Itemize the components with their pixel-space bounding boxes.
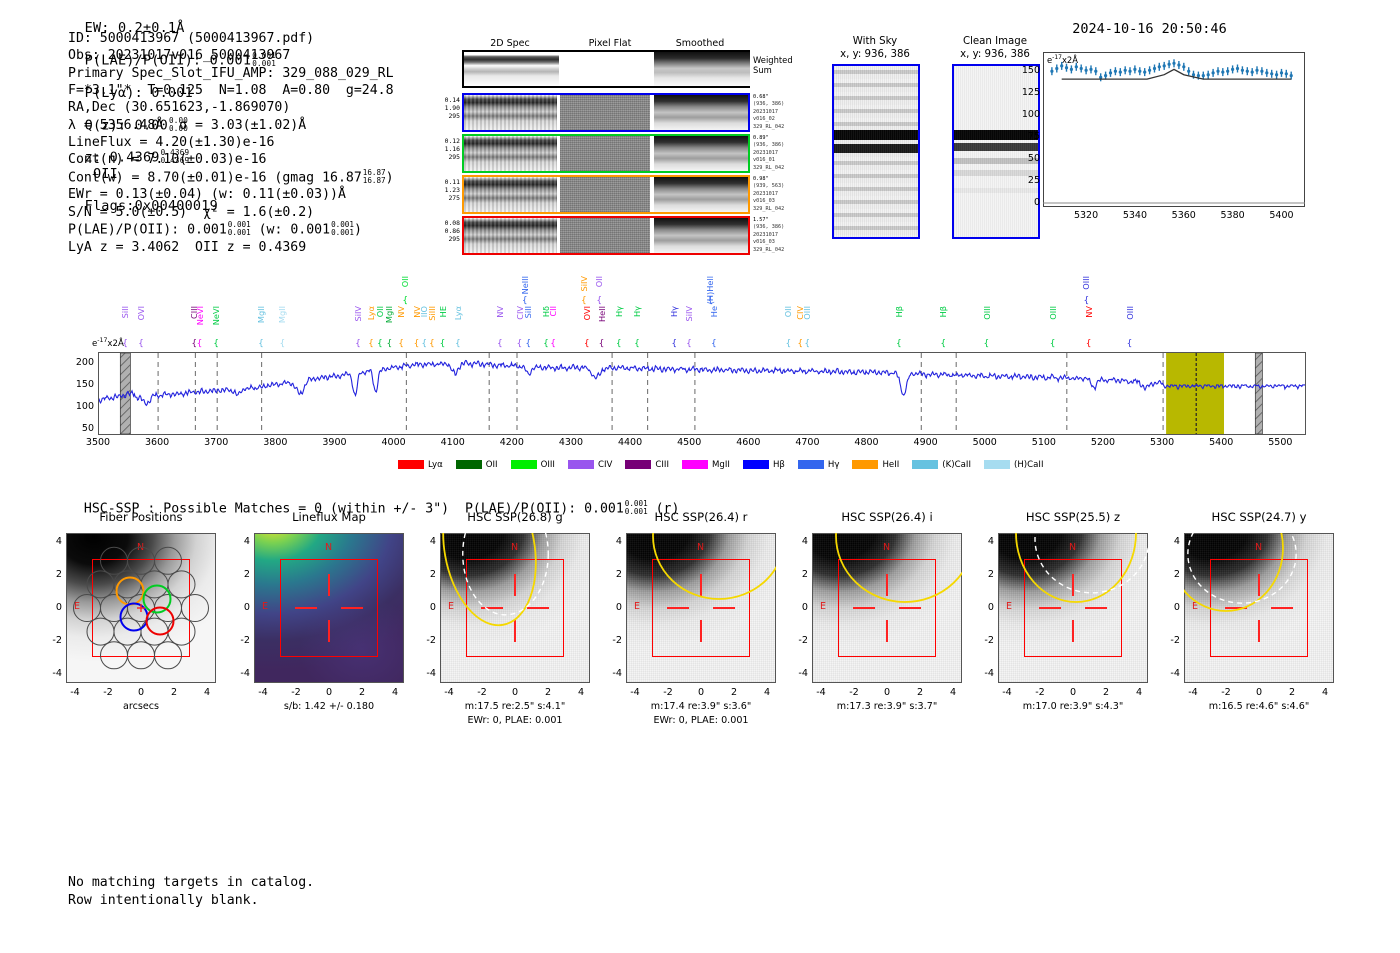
emission-line-bracket: { bbox=[599, 339, 605, 349]
crosshair-right bbox=[899, 607, 921, 608]
zoom-xtick: 5320 bbox=[1068, 210, 1104, 221]
fiber-metadata-line: 0.89" bbox=[753, 135, 813, 142]
panel-ytick: 4 bbox=[602, 536, 622, 547]
panel-xtick: -2 bbox=[468, 687, 496, 698]
emission-line-label: HE bbox=[438, 306, 448, 317]
panel-xtick: 0 bbox=[1059, 687, 1087, 698]
spectrum-xtick: 3600 bbox=[135, 437, 179, 448]
fiber-row-stats: 0.121.16295 bbox=[436, 137, 460, 161]
emission-line-bracket: { bbox=[402, 296, 408, 306]
fiber-row-metadata: 0.68"(936, 386)20231017v016_02329_RL_042 bbox=[753, 94, 813, 131]
emission-line-bracket: { bbox=[1050, 339, 1056, 349]
clean-image-title: Clean Image bbox=[925, 36, 1065, 49]
panel-xtick: -4 bbox=[1179, 687, 1207, 698]
emission-line-label: OII bbox=[594, 276, 604, 287]
emission-line-label: HeII bbox=[597, 306, 607, 322]
fiber-stat-value: 295 bbox=[436, 235, 460, 243]
panel-xtick: 4 bbox=[1125, 687, 1153, 698]
fiber-spec-row bbox=[462, 134, 750, 173]
panel-xtick: 2 bbox=[534, 687, 562, 698]
emission-line-bracket: { bbox=[138, 339, 144, 349]
emission-line-bracket: { bbox=[1127, 339, 1133, 349]
spectrum-xtick: 4100 bbox=[431, 437, 475, 448]
emission-line-label: Hγ bbox=[614, 306, 624, 317]
emission-line-bracket: { bbox=[440, 339, 446, 349]
legend-item: Hβ bbox=[743, 460, 785, 470]
emission-line-label: SiIII bbox=[427, 306, 437, 321]
legend-item: (K)CaII bbox=[912, 460, 971, 470]
compass-north: N bbox=[883, 542, 890, 553]
emission-line-bracket: { bbox=[797, 339, 803, 349]
fiber-stat-value: 1.90 bbox=[436, 104, 460, 112]
crosshair-right bbox=[341, 607, 363, 608]
legend-item: CIII bbox=[625, 460, 669, 470]
panel-ytick: 2 bbox=[42, 569, 62, 580]
panel-xtick: -2 bbox=[94, 687, 122, 698]
emission-line-label: MgII bbox=[384, 306, 394, 323]
emission-line-bracket: { bbox=[785, 339, 791, 349]
emission-line-label: OIII bbox=[1125, 306, 1135, 320]
crosshair-top bbox=[1258, 574, 1259, 596]
panel-ytick: -2 bbox=[42, 635, 62, 646]
emission-line-bracket: { bbox=[517, 339, 523, 349]
emission-line-label: OIII bbox=[1081, 276, 1091, 290]
panel-ytick: -4 bbox=[602, 668, 622, 679]
panel-ytick: 0 bbox=[1160, 602, 1180, 613]
panel-xtick: -2 bbox=[1212, 687, 1240, 698]
panel-ytick: 2 bbox=[416, 569, 436, 580]
panel-ytick: -2 bbox=[602, 635, 622, 646]
emission-line-bracket: { bbox=[398, 339, 404, 349]
spectrum-xtick: 5200 bbox=[1081, 437, 1125, 448]
panel-ytick: 0 bbox=[788, 602, 808, 613]
spectrum-ytick: 50 bbox=[62, 423, 94, 434]
zoom-xtick: 5360 bbox=[1166, 210, 1202, 221]
legend-color-chip bbox=[852, 460, 878, 469]
spectrum-xtick: 3800 bbox=[253, 437, 297, 448]
spectrum-xtick: 4500 bbox=[667, 437, 711, 448]
emission-line-label: Hγ bbox=[632, 306, 642, 317]
crosshair-bottom bbox=[514, 620, 515, 642]
fiber-metadata-line: 0.98" bbox=[753, 176, 813, 183]
panel-xtick: 2 bbox=[348, 687, 376, 698]
fiber-metadata-line: (939, 563) bbox=[753, 183, 813, 190]
panel-ytick: 4 bbox=[974, 536, 994, 547]
zoom-ytick: 0 bbox=[1012, 197, 1040, 208]
panel-xtick: -4 bbox=[993, 687, 1021, 698]
emission-line-bracket: { bbox=[279, 339, 285, 349]
legend-item: CIV bbox=[568, 460, 612, 470]
emission-line-bracket: { bbox=[455, 339, 461, 349]
spectrum-yunit-label: e-17x2Å bbox=[92, 337, 124, 349]
crosshair-bottom bbox=[1258, 620, 1259, 642]
panel-xtick: -4 bbox=[807, 687, 835, 698]
spectrum-xtick: 3900 bbox=[312, 437, 356, 448]
compass-east: E bbox=[820, 601, 826, 612]
panel-ytick: 0 bbox=[230, 602, 250, 613]
emission-line-bracket: { bbox=[686, 339, 692, 349]
emission-line-bracket: { bbox=[522, 296, 528, 306]
spectrum-xtick: 4900 bbox=[904, 437, 948, 448]
crosshair-bottom bbox=[1072, 620, 1073, 642]
fiber-stat-value: 0.12 bbox=[436, 137, 460, 145]
legend-item: OIII bbox=[511, 460, 555, 470]
spectrum-xtick: 4000 bbox=[372, 437, 416, 448]
panel-title: HSC SSP(26.8) g bbox=[410, 510, 620, 524]
emission-line-bracket: { bbox=[355, 339, 361, 349]
legend-color-chip bbox=[682, 460, 708, 469]
emission-line-bracket: { bbox=[711, 339, 717, 349]
weighted-sum-label-line1: Weighted bbox=[753, 55, 793, 65]
panel-xtick: 0 bbox=[501, 687, 529, 698]
crosshair-right bbox=[1085, 607, 1107, 608]
panel-ytick: 2 bbox=[230, 569, 250, 580]
panel-ytick: 2 bbox=[602, 569, 622, 580]
emission-line-bracket: { bbox=[213, 339, 219, 349]
panel-caption-secondary: EWr: 0, PLAE: 0.001 bbox=[408, 715, 622, 726]
emission-line-bracket: { bbox=[258, 339, 264, 349]
panel-ytick: -2 bbox=[416, 635, 436, 646]
zoom-ytick: 125 bbox=[1012, 87, 1040, 98]
legend-item: HeII bbox=[852, 460, 899, 470]
fiber-metadata-line: v016_03 bbox=[753, 198, 813, 205]
zoom-yunit-label: e-17x2Å bbox=[1047, 54, 1078, 65]
info-sn-chi2: S/N = 5.0(±0.5) χ² = 1.6(±0.2) bbox=[68, 204, 394, 221]
emission-line-label: He bbox=[709, 306, 719, 317]
panel-ytick: 0 bbox=[602, 602, 622, 613]
compass-east: E bbox=[448, 601, 454, 612]
spectrum-xtick: 4700 bbox=[785, 437, 829, 448]
emission-line-bracket: { bbox=[1083, 296, 1089, 306]
zoom-ytick: 50 bbox=[1012, 153, 1040, 164]
panel-caption-secondary: EWr: 0, PLAE: 0.001 bbox=[594, 715, 808, 726]
emission-line-bracket: { bbox=[377, 339, 383, 349]
fiber-smoothed-image bbox=[654, 177, 748, 212]
emission-line-label: SiIV bbox=[353, 306, 363, 322]
emission-line-bracket: { bbox=[414, 339, 420, 349]
emission-line-label: NeVI bbox=[211, 306, 221, 325]
panel-xtick: -2 bbox=[1026, 687, 1054, 698]
info-cont-w-text: Cont(w) = 8.70(±0.01)e-16 (gmag 16.87 bbox=[68, 170, 362, 185]
panel-xtick: 2 bbox=[1278, 687, 1306, 698]
fiber-2dspec-image bbox=[464, 218, 557, 253]
legend-label: CIII bbox=[655, 460, 669, 470]
info-wavelength-sigma: λ = 5356.48Å σ = 3.03(±1.02)Å bbox=[68, 117, 394, 134]
info-redshifts: LyA z = 3.4062 OII z = 0.4369 bbox=[68, 239, 394, 256]
weighted-sum-label: Weighted Sum bbox=[753, 55, 793, 75]
info-radec: RA,Dec (30.651623,-1.869070) bbox=[68, 99, 394, 116]
panel-xtick: 4 bbox=[939, 687, 967, 698]
crosshair-left bbox=[1225, 607, 1247, 608]
crosshair-top bbox=[700, 574, 701, 596]
emission-line-bracket: { bbox=[525, 339, 531, 349]
panel-xtick: -2 bbox=[654, 687, 682, 698]
fiber-metadata-line: 20231017 bbox=[753, 191, 813, 198]
emission-line-label: MgII bbox=[277, 306, 287, 323]
panel-xtick: 2 bbox=[906, 687, 934, 698]
spectrum-legend: LyαOIIOIIICIVCIIIMgIIHβHγHeII(K)CaII(H)C… bbox=[398, 454, 1057, 473]
panel-ytick: 4 bbox=[230, 536, 250, 547]
emission-line-bracket: { bbox=[616, 339, 622, 349]
panel-ytick: 4 bbox=[788, 536, 808, 547]
col-title-2dspec: 2D Spec bbox=[470, 38, 550, 49]
spectrum-ytick: 200 bbox=[62, 357, 94, 368]
panel-title: HSC SSP(26.4) r bbox=[596, 510, 806, 524]
legend-color-chip bbox=[912, 460, 938, 469]
panel-xtick: 0 bbox=[315, 687, 343, 698]
panel-title: HSC SSP(24.7) y bbox=[1154, 510, 1364, 524]
with-sky-title-block: With Sky x, y: 936, 386 bbox=[810, 36, 940, 61]
col-title-pixelflat: Pixel Flat bbox=[570, 38, 650, 49]
info-ewr: EWr = 0.13(±0.04) (w: 0.11(±0.03))Å bbox=[68, 186, 394, 203]
fiber-metadata-line: 329_RL_042 bbox=[753, 165, 813, 172]
panel-ytick: -2 bbox=[974, 635, 994, 646]
legend-item: (H)CaII bbox=[984, 460, 1044, 470]
emission-line-bracket: { bbox=[984, 339, 990, 349]
fiber-spec-row bbox=[462, 93, 750, 132]
fiber-stat-value: 0.86 bbox=[436, 227, 460, 235]
info-gmag-frac-bot: 16.87 bbox=[363, 176, 386, 185]
emission-line-bracket: { bbox=[671, 339, 677, 349]
panel-caption-primary: arcsecs bbox=[34, 701, 248, 712]
legend-color-chip bbox=[568, 460, 594, 469]
emission-line-bracket: { bbox=[584, 339, 590, 349]
emission-line-bracket: { bbox=[940, 339, 946, 349]
info-cont-w: Cont(w) = 8.70(±0.01)e-16 (gmag 16.8716.… bbox=[68, 169, 394, 187]
spectrum-xtick: 5100 bbox=[1022, 437, 1066, 448]
panel-ytick: -4 bbox=[788, 668, 808, 679]
compass-east: E bbox=[1192, 601, 1198, 612]
info-cont-n: Cont(n) = 7.10(±0.03)e-16 bbox=[68, 151, 394, 168]
weighted-sum-2dspec-image bbox=[464, 52, 559, 86]
fiber-spec-row bbox=[462, 175, 750, 214]
panel-title: HSC SSP(26.4) i bbox=[782, 510, 992, 524]
emission-line-label: Lyα bbox=[453, 306, 463, 320]
legend-label: HeII bbox=[882, 460, 899, 470]
spectrum-xtick: 5500 bbox=[1258, 437, 1302, 448]
legend-label: (K)CaII bbox=[942, 460, 971, 470]
panel-xtick: 4 bbox=[193, 687, 221, 698]
info-lineflux: LineFlux = 4.20(±1.30)e-16 bbox=[68, 134, 394, 151]
panel-ytick: 2 bbox=[974, 569, 994, 580]
fiber-2dspec-image bbox=[464, 95, 557, 130]
info-plae-frac-bot: 0.001 bbox=[228, 228, 251, 237]
panel-title: Lineflux Map bbox=[224, 510, 434, 524]
fiber-stat-value: 295 bbox=[436, 112, 460, 120]
panel-ytick: 0 bbox=[974, 602, 994, 613]
fiber-metadata-line: (936, 386) bbox=[753, 142, 813, 149]
fiber-row-stats: 0.080.86295 bbox=[436, 219, 460, 243]
legend-item: OII bbox=[456, 460, 498, 470]
panel-ytick: 2 bbox=[1160, 569, 1180, 580]
crosshair-right bbox=[1271, 607, 1293, 608]
legend-color-chip bbox=[798, 460, 824, 469]
panel-title: HSC SSP(25.5) z bbox=[968, 510, 1178, 524]
panel-caption-primary: m:17.5 re:2.5" s:4.1" bbox=[408, 701, 622, 712]
legend-item: MgII bbox=[682, 460, 730, 470]
crosshair-top bbox=[514, 574, 515, 596]
crosshair-top bbox=[1072, 574, 1073, 596]
fiber-pixelflat-image bbox=[560, 218, 650, 253]
fiber-metadata-line: 329_RL_042 bbox=[753, 206, 813, 213]
emission-line-label: Hγ bbox=[669, 306, 679, 317]
zoom-ytick: 150 bbox=[1012, 65, 1040, 76]
legend-color-chip bbox=[511, 460, 537, 469]
panel-caption-primary: m:17.0 re:3.9" s:4.3" bbox=[966, 701, 1180, 712]
zoom-xtick: 5400 bbox=[1263, 210, 1299, 221]
legend-label: MgII bbox=[712, 460, 730, 470]
panel-ytick: 4 bbox=[416, 536, 436, 547]
emission-line-label: OIII bbox=[802, 306, 812, 320]
fiber-metadata-line: 329_RL_042 bbox=[753, 124, 813, 131]
fiber-stat-value: 0.14 bbox=[436, 96, 460, 104]
panel-caption-primary: m:17.3 re:3.9" s:3.7" bbox=[780, 701, 994, 712]
spectrum-ytick: 100 bbox=[62, 401, 94, 412]
emission-line-label: OII bbox=[400, 276, 410, 287]
panel-xtick: -4 bbox=[435, 687, 463, 698]
spectrum-xtick: 3700 bbox=[194, 437, 238, 448]
emission-line-bracket: { bbox=[543, 339, 549, 349]
fiber-metadata-line: 20231017 bbox=[753, 150, 813, 157]
legend-color-chip bbox=[625, 460, 651, 469]
zoom-ytick: 75 bbox=[1012, 131, 1040, 142]
weighted-sum-smoothed-image bbox=[654, 52, 750, 86]
panel-title: Fiber Positions bbox=[36, 510, 246, 524]
fiber-stat-value: 1.23 bbox=[436, 186, 460, 194]
panel-caption-primary: m:16.5 re:4.6" s:4.6" bbox=[1152, 701, 1366, 712]
crosshair-left bbox=[1039, 607, 1061, 608]
compass-north: N bbox=[1255, 542, 1262, 553]
emission-line-label: CII bbox=[548, 306, 558, 317]
legend-label: (H)CaII bbox=[1014, 460, 1044, 470]
spectrum-xtick: 4800 bbox=[845, 437, 889, 448]
fiber-row-metadata: 0.98"(939, 563)20231017v016_03329_RL_042 bbox=[753, 176, 813, 213]
fiber-metadata-line: (936, 386) bbox=[753, 224, 813, 231]
emission-line-bracket: { bbox=[550, 339, 556, 349]
compass-north: N bbox=[697, 542, 704, 553]
emission-line-bracket: { bbox=[497, 339, 503, 349]
info-obs: Obs: 20231017v016_5000413967 bbox=[68, 47, 394, 64]
emission-line-bracket: { bbox=[581, 296, 587, 306]
panel-ytick: 2 bbox=[788, 569, 808, 580]
panel-ytick: -4 bbox=[416, 668, 436, 679]
panel-xtick: 4 bbox=[753, 687, 781, 698]
fiber-metadata-line: 20231017 bbox=[753, 109, 813, 116]
fiber-2dspec-image bbox=[464, 177, 557, 212]
panel-xtick: 2 bbox=[720, 687, 748, 698]
emission-line-label: SiII bbox=[120, 306, 130, 318]
panel-caption-primary: s/b: 1.42 +/- 0.180 bbox=[222, 701, 436, 712]
panel-ytick: 4 bbox=[1160, 536, 1180, 547]
legend-color-chip bbox=[743, 460, 769, 469]
emission-line-bracket: { bbox=[429, 339, 435, 349]
emission-line-label: NV bbox=[396, 306, 406, 318]
emission-line-bracket: { bbox=[804, 339, 810, 349]
emission-line-label: SiIV bbox=[579, 276, 589, 292]
emission-line-bracket: { bbox=[197, 339, 203, 349]
zoom-ytick: 25 bbox=[1012, 175, 1040, 186]
fiber-circle-overlay bbox=[66, 533, 216, 683]
compass-east: E bbox=[634, 601, 640, 612]
legend-label: Hβ bbox=[773, 460, 785, 470]
weighted-sum-label-line2: Sum bbox=[753, 65, 793, 75]
with-sky-image bbox=[832, 64, 920, 239]
compass-north: N bbox=[325, 542, 332, 553]
legend-label: OIII bbox=[541, 460, 555, 470]
compass-east: E bbox=[1006, 601, 1012, 612]
crosshair-right bbox=[527, 607, 549, 608]
panel-xtick: -2 bbox=[840, 687, 868, 698]
emission-line-bracket: { bbox=[368, 339, 374, 349]
panel-ytick: -2 bbox=[788, 635, 808, 646]
emission-line-bracket: { bbox=[1086, 339, 1092, 349]
info-plae-text: P(LAE)/P(OII): 0.001 bbox=[68, 222, 227, 237]
weighted-sum-panel bbox=[462, 50, 750, 88]
legend-label: Hγ bbox=[828, 460, 840, 470]
fiber-smoothed-image bbox=[654, 136, 748, 171]
panel-xtick: 4 bbox=[381, 687, 409, 698]
timestamp: 2024-10-16 20:50:46 bbox=[1072, 21, 1226, 37]
panel-xtick: -4 bbox=[621, 687, 649, 698]
panel-xtick: -2 bbox=[282, 687, 310, 698]
panel-xtick: 0 bbox=[127, 687, 155, 698]
legend-item: Hγ bbox=[798, 460, 840, 470]
info-plae-poii: P(LAE)/P(OII): 0.0010.0010.001 (w: 0.001… bbox=[68, 221, 394, 239]
panel-ytick: 0 bbox=[42, 602, 62, 613]
legend-color-chip bbox=[456, 460, 482, 469]
emission-line-label: SiIV bbox=[684, 306, 694, 322]
crosshair-right bbox=[713, 607, 735, 608]
fiber-stat-value: 275 bbox=[436, 194, 460, 202]
col-title-smoothed: Smoothed bbox=[660, 38, 740, 49]
fiber-pixelflat-image bbox=[560, 177, 650, 212]
info-plae-w-text: (w: 0.001 bbox=[259, 222, 330, 237]
fiber-metadata-line: 0.68" bbox=[753, 94, 813, 101]
crosshair-left bbox=[295, 607, 317, 608]
full-spectrum-plot bbox=[98, 352, 1306, 435]
zoom-xtick: 5380 bbox=[1215, 210, 1251, 221]
panel-caption-primary: m:17.4 re:3.9" s:3.6" bbox=[594, 701, 808, 712]
emission-line-bracket: { bbox=[634, 339, 640, 349]
panel-ytick: -2 bbox=[230, 635, 250, 646]
spectrum-xtick: 4200 bbox=[490, 437, 534, 448]
panel-xtick: -4 bbox=[249, 687, 277, 698]
fiber-spec-row bbox=[462, 216, 750, 255]
legend-label: Lyα bbox=[428, 460, 443, 470]
crosshair-bottom bbox=[328, 620, 329, 642]
panel-xtick: 4 bbox=[1311, 687, 1339, 698]
panel-xtick: 4 bbox=[567, 687, 595, 698]
crosshair-left bbox=[481, 607, 503, 608]
legend-label: CIV bbox=[598, 460, 612, 470]
panel-ytick: 0 bbox=[416, 602, 436, 613]
full-spectrum-svg bbox=[99, 353, 1305, 434]
spectrum-xtick: 4400 bbox=[608, 437, 652, 448]
fiber-stat-value: 0.11 bbox=[436, 178, 460, 186]
crosshair-top bbox=[328, 574, 329, 596]
fiber-row-stats: 0.111.23275 bbox=[436, 178, 460, 202]
legend-color-chip bbox=[398, 460, 424, 469]
fiber-metadata-line: 1.57" bbox=[753, 217, 813, 224]
legend-label: OII bbox=[486, 460, 498, 470]
fiber-metadata-line: v016_02 bbox=[753, 116, 813, 123]
emission-line-label: NeIII bbox=[520, 276, 530, 294]
info-id: ID: 5000413967 (5000413967.pdf) bbox=[68, 30, 394, 47]
crosshair-left bbox=[853, 607, 875, 608]
fiber-pixelflat-image bbox=[560, 136, 650, 171]
emission-line-label: NeVI bbox=[195, 306, 205, 325]
panel-xtick: 0 bbox=[873, 687, 901, 698]
